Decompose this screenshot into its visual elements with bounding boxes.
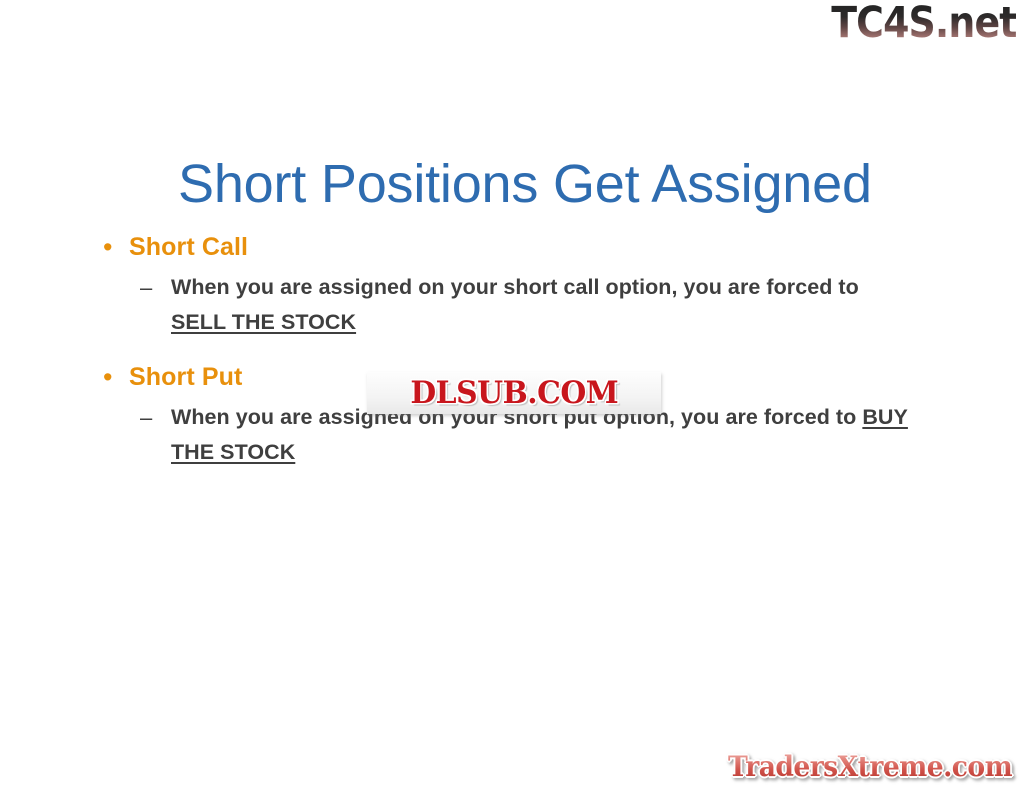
dlsub-watermark-text: DLSUB.COM bbox=[410, 378, 618, 409]
sub-bullet-dash-icon: – bbox=[140, 270, 171, 305]
sub-bullet-emphasis-text-call: SELL THE STOCK bbox=[171, 310, 356, 334]
tradersxtreme-footer-logo: TradersXtreme.com bbox=[728, 753, 1012, 781]
presentation-slide: TC4S.net Short Positions Get Assigned • … bbox=[0, 0, 1024, 791]
sub-bullet-dash-icon: – bbox=[140, 400, 171, 435]
bullet-point-icon: • bbox=[96, 228, 129, 266]
sub-bullet-text-short-call: When you are assigned on your short call… bbox=[171, 270, 913, 340]
bullet-item-short-call: • Short Call bbox=[96, 228, 952, 266]
slide-title: Short Positions Get Assigned bbox=[178, 156, 872, 213]
dlsub-watermark: DLSUB.COM bbox=[367, 372, 661, 414]
tc4s-brand-logo: TC4S.net bbox=[831, 2, 1016, 45]
bullet-point-icon: • bbox=[96, 358, 129, 396]
sub-bullet-item-short-call: – When you are assigned on your short ca… bbox=[96, 270, 952, 340]
bullet-label-short-put: Short Put bbox=[129, 358, 242, 396]
bullet-label-short-call: Short Call bbox=[129, 228, 248, 266]
slide-body-content: • Short Call – When you are assigned on … bbox=[96, 228, 952, 470]
sub-bullet-lead-text-call: When you are assigned on your short call… bbox=[171, 275, 859, 299]
